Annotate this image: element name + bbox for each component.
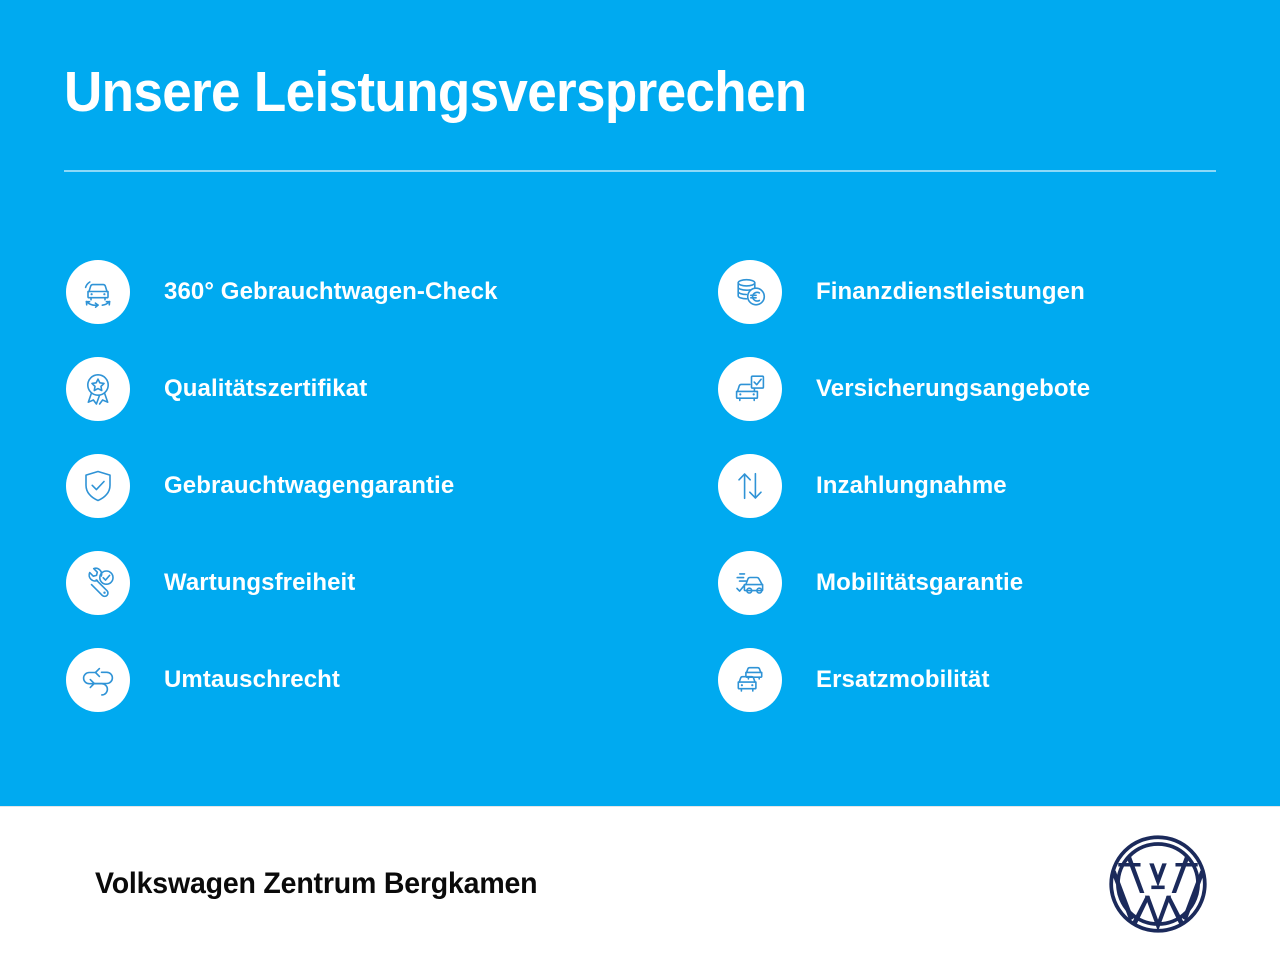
promise-column-left: 360° Gebrauchtwagen-Check Qualitätszerti… xyxy=(0,243,640,728)
promise-label: Inzahlungnahme xyxy=(816,471,1007,501)
promise-label: Finanzdienstleistungen xyxy=(816,277,1085,307)
car-360-check-icon xyxy=(66,260,130,324)
exchange-arrows-icon xyxy=(66,648,130,712)
arrows-up-down-icon xyxy=(718,454,782,518)
award-ribbon-icon xyxy=(66,357,130,421)
wrench-check-icon xyxy=(66,551,130,615)
page-title: Unsere Leistungsversprechen xyxy=(64,57,807,127)
two-cars-icon xyxy=(718,648,782,712)
car-checkbox-icon xyxy=(718,357,782,421)
promise-item-quality-certificate: Qualitätszertifikat xyxy=(66,340,640,437)
promise-label: 360° Gebrauchtwagen-Check xyxy=(164,277,498,307)
volkswagen-logo xyxy=(1106,832,1210,936)
promise-item-warranty: Gebrauchtwagengarantie xyxy=(66,437,640,534)
promise-item-trade-in: Inzahlungnahme xyxy=(640,437,1280,534)
promise-label: Wartungsfreiheit xyxy=(164,568,355,598)
shield-check-icon xyxy=(66,454,130,518)
promise-item-replacement-mobility: Ersatzmobilität xyxy=(640,631,1280,728)
promise-label: Versicherungsangebote xyxy=(816,374,1090,404)
promise-item-maintenance-free: Wartungsfreiheit xyxy=(66,534,640,631)
promise-label: Umtauschrecht xyxy=(164,665,340,695)
promise-label: Mobilitätsgarantie xyxy=(816,568,1023,598)
promise-item-financial-services: Finanzdienstleistungen xyxy=(640,243,1280,340)
coins-euro-icon xyxy=(718,260,782,324)
car-speed-check-icon xyxy=(718,551,782,615)
service-promise-panel: Unsere Leistungsversprechen xyxy=(0,0,1280,806)
promise-page: Unsere Leistungsversprechen xyxy=(0,0,1280,960)
promise-label: Gebrauchtwagengarantie xyxy=(164,471,454,501)
dealer-footer: Volkswagen Zentrum Bergkamen xyxy=(0,806,1280,960)
promise-column-right: Finanzdienstleistungen xyxy=(640,243,1280,728)
promise-item-exchange-right: Umtauschrecht xyxy=(66,631,640,728)
promise-item-mobility-guarantee: Mobilitätsgarantie xyxy=(640,534,1280,631)
promise-label: Ersatzmobilität xyxy=(816,665,990,695)
promise-label: Qualitätszertifikat xyxy=(164,374,367,404)
promise-columns: 360° Gebrauchtwagen-Check Qualitätszerti… xyxy=(0,243,1280,728)
dealer-name: Volkswagen Zentrum Bergkamen xyxy=(95,867,537,901)
promise-item-insurance-offers: Versicherungsangebote xyxy=(640,340,1280,437)
promise-item-360-check: 360° Gebrauchtwagen-Check xyxy=(66,243,640,340)
title-divider xyxy=(64,170,1216,172)
